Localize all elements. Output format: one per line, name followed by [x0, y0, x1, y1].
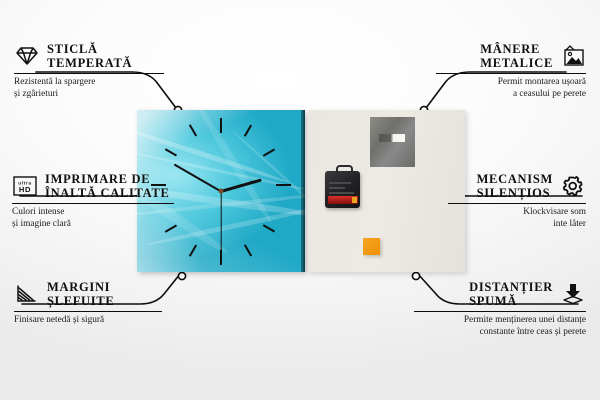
feature-glass-subtitle: Rezistentă la spargere și zgârieturi: [14, 77, 164, 100]
clock-center-hub: [219, 189, 224, 194]
marker-foam: [412, 272, 419, 279]
feature-mechanism-title-row: MECANISM SILENȚIOS: [448, 172, 586, 200]
mechanism-shaft-loop: [336, 165, 353, 175]
product-photo: [137, 110, 465, 272]
wall-mount-icon: [560, 45, 586, 67]
feature-mount-rule: [436, 73, 586, 74]
feature-print-title: IMPRIMARE DE ÎNALTĂ CALITATE: [45, 172, 170, 200]
feature-mechanism: MECANISM SILENȚIOS Klockvisare som inte …: [448, 172, 586, 230]
marker-edges: [178, 272, 185, 279]
feature-mount-title-row: MÂNERE METALICE: [436, 42, 586, 70]
feature-foam-title-row: DISTANȚIER SPUMĂ: [414, 280, 586, 308]
feature-print-subtitle: Culori intense și imagine clară: [12, 207, 174, 230]
foam-spacer-pad: [363, 238, 380, 255]
feature-mechanism-title: MECANISM SILENȚIOS: [477, 172, 553, 200]
quartz-clock-mechanism: [325, 171, 360, 208]
feature-mechanism-subtitle: Klockvisare som inte låter: [448, 207, 586, 230]
feature-mount: MÂNERE METALICE Permit montarea ușoară a…: [436, 42, 586, 100]
feature-edges-title-row: MARGINI ȘLEFUITE: [14, 280, 162, 308]
clock-hand-second: [220, 191, 221, 251]
svg-text:HD: HD: [19, 185, 31, 194]
infographic-canvas: STICLĂ TEMPERATĂ Rezistentă la spargere …: [0, 0, 600, 400]
feature-glass-rule: [14, 73, 164, 74]
feature-edges-subtitle: Finisare netedă și sigură: [14, 315, 162, 326]
feature-glass-title-row: STICLĂ TEMPERATĂ: [14, 42, 164, 70]
feature-foam-subtitle: Permite menținerea unei distanțe constan…: [414, 315, 586, 338]
foam-spacer-icon: [560, 283, 586, 305]
feature-glass: STICLĂ TEMPERATĂ Rezistentă la spargere …: [14, 42, 164, 100]
clock-hand-minute: [174, 163, 222, 192]
feature-foam-title: DISTANȚIER SPUMĂ: [469, 280, 553, 308]
feature-mount-title: MÂNERE METALICE: [480, 42, 553, 70]
hanger-keyhole-slot: [379, 134, 405, 142]
feature-edges-title: MARGINI ȘLEFUITE: [47, 280, 114, 308]
beveled-edge-icon: [14, 283, 40, 305]
clock-hand-hour: [221, 178, 262, 193]
diamond-icon: [14, 45, 40, 67]
feature-foam: DISTANȚIER SPUMĂ Permite menținerea unei…: [414, 280, 586, 338]
feature-mechanism-rule: [448, 203, 586, 204]
feature-foam-rule: [414, 311, 586, 312]
metal-hanger-plate: [370, 117, 415, 167]
ultra-hd-icon: ultra HD: [12, 175, 38, 197]
feature-edges-rule: [14, 311, 162, 312]
feature-print-title-row: ultra HD IMPRIMARE DE ÎNALTĂ CALITATE: [12, 172, 174, 200]
aa-battery: [328, 196, 358, 204]
feature-print: ultra HD IMPRIMARE DE ÎNALTĂ CALITATE Cu…: [12, 172, 174, 230]
battery-plus-terminal: [352, 197, 357, 203]
feature-mount-subtitle: Permit montarea ușoară a ceasului pe per…: [436, 77, 586, 100]
feature-edges: MARGINI ȘLEFUITE Finisare netedă și sigu…: [14, 280, 162, 327]
clock-back-panel: [308, 110, 465, 272]
feature-print-rule: [12, 203, 174, 204]
feature-glass-title: STICLĂ TEMPERATĂ: [47, 42, 132, 70]
gear-icon: [560, 175, 586, 197]
